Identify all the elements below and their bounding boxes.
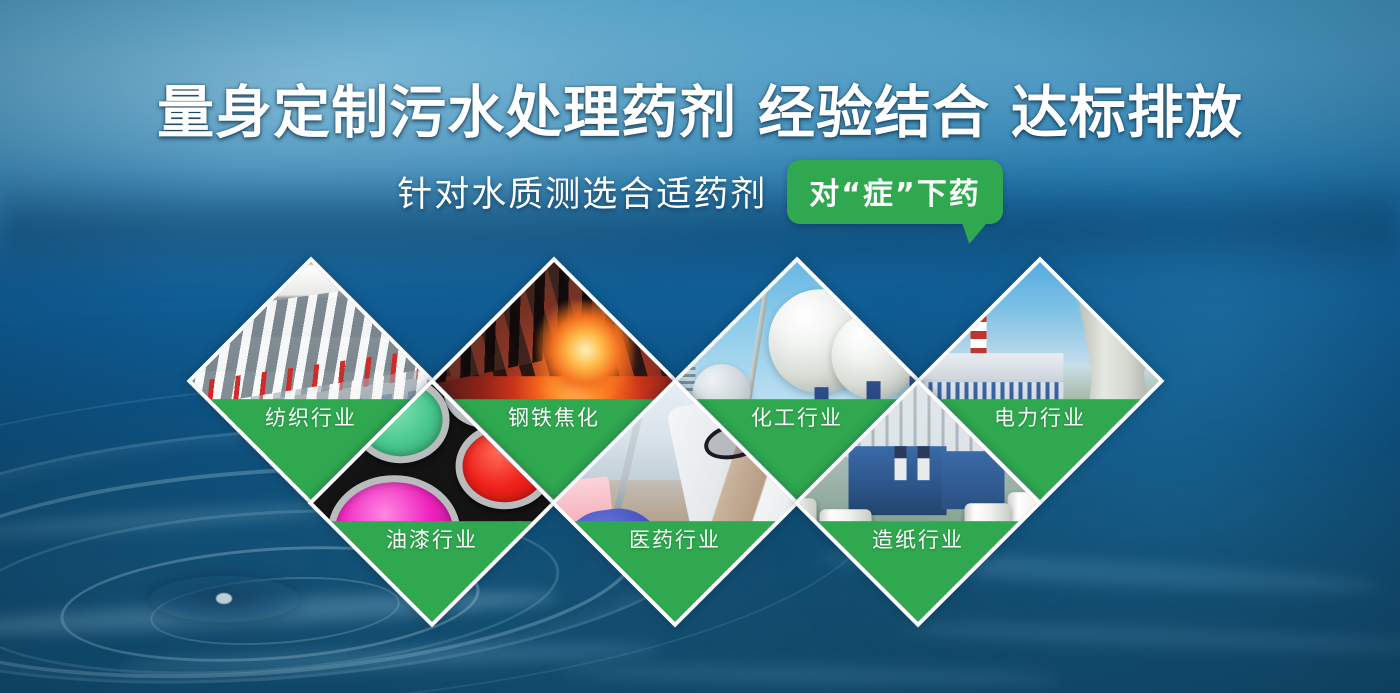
page-subtitle: 针对水质测选合适药剂 bbox=[397, 166, 767, 217]
industry-label: 电力行业 bbox=[994, 401, 1086, 431]
water-treatment-banner: 量身定制污水处理药剂 经验结合 达标排放 针对水质测选合适药剂 对“症”下药 纺… bbox=[0, 0, 1400, 693]
tagline-badge: 对“症”下药 bbox=[787, 160, 1002, 224]
label-band: 造纸行业 bbox=[794, 520, 1043, 627]
label-band: 油漆行业 bbox=[308, 520, 557, 627]
banner-heading-group: 量身定制污水处理药剂 经验结合 达标排放 针对水质测选合适药剂 对“症”下药 bbox=[0, 84, 1400, 224]
industry-label: 医药行业 bbox=[629, 523, 721, 553]
page-title: 量身定制污水处理药剂 经验结合 达标排放 bbox=[0, 84, 1400, 144]
subtitle-row: 针对水质测选合适药剂 对“症”下药 bbox=[0, 160, 1400, 224]
industry-label: 油漆行业 bbox=[386, 523, 478, 553]
industry-label: 造纸行业 bbox=[872, 523, 964, 553]
industry-label: 钢铁焦化 bbox=[508, 401, 600, 431]
industry-label: 化工行业 bbox=[751, 401, 843, 431]
label-band: 医药行业 bbox=[551, 520, 800, 627]
industry-label: 纺织行业 bbox=[265, 401, 357, 431]
